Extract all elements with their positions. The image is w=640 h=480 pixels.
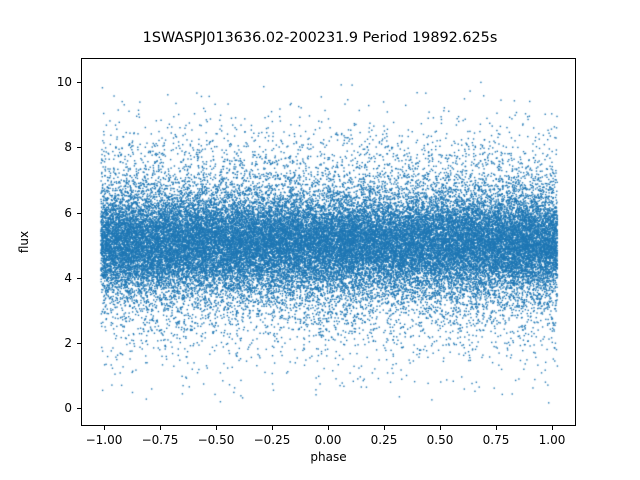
x-tick-label: −0.25 — [254, 433, 291, 447]
figure-canvas: 1SWASPJ013636.02-200231.9 Period 19892.6… — [0, 0, 640, 480]
page-title: 1SWASPJ013636.02-200231.9 Period 19892.6… — [0, 30, 640, 47]
x-tick-label: 0.50 — [427, 433, 454, 447]
x-tick-label: −0.50 — [198, 433, 235, 447]
y-tick-label: 0 — [64, 401, 72, 415]
x-tick-mark — [552, 426, 553, 430]
x-tick-mark — [104, 426, 105, 430]
x-tick-mark — [384, 426, 385, 430]
x-tick-mark — [496, 426, 497, 430]
y-tick-label: 10 — [57, 75, 72, 89]
x-tick-mark — [160, 426, 161, 430]
x-tick-label: 1.00 — [539, 433, 566, 447]
y-tick-mark — [77, 408, 81, 409]
y-tick-mark — [77, 343, 81, 344]
x-axis-label: phase — [81, 450, 576, 464]
x-tick-label: 0.25 — [371, 433, 398, 447]
y-tick-mark — [77, 82, 81, 83]
x-tick-label: 0.75 — [483, 433, 510, 447]
x-tick-mark — [272, 426, 273, 430]
y-tick-mark — [77, 147, 81, 148]
x-tick-label: −0.75 — [142, 433, 179, 447]
x-tick-mark — [328, 426, 329, 430]
y-tick-label: 2 — [64, 336, 72, 350]
x-tick-mark — [440, 426, 441, 430]
y-tick-label: 6 — [64, 206, 72, 220]
y-tick-label: 8 — [64, 140, 72, 154]
x-tick-label: 0.00 — [315, 433, 342, 447]
scatter-points — [82, 59, 575, 425]
y-tick-label: 4 — [64, 271, 72, 285]
y-tick-mark — [77, 213, 81, 214]
x-tick-label: −1.00 — [86, 433, 123, 447]
x-tick-mark — [216, 426, 217, 430]
y-tick-mark — [77, 278, 81, 279]
plot-area — [81, 58, 576, 426]
y-axis-label: flux — [17, 212, 31, 272]
